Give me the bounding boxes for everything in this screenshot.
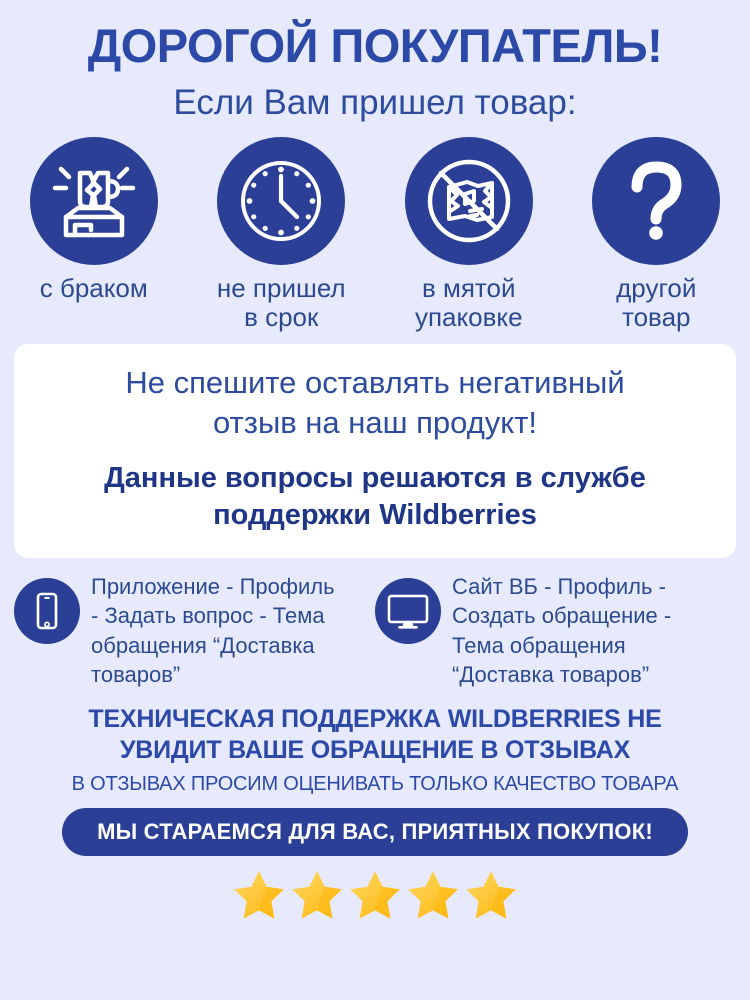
issue-label-line1: другой	[616, 273, 696, 303]
notice-line-1: Не спешите оставлять негативный	[125, 365, 624, 400]
notice-card-message: Не спешите оставлять негативный отзыв на…	[125, 363, 624, 442]
instruction-line-3: Тема обращения	[452, 633, 626, 658]
issue-label-line2: товар	[622, 302, 691, 332]
issue-icon-circle	[217, 137, 345, 265]
issue-item-late: не пришел в срок	[188, 137, 374, 332]
instruction-icon-circle	[14, 578, 80, 644]
instruction-line-2: Создать обращение -	[452, 603, 671, 628]
issue-icon-circle	[592, 137, 720, 265]
star-icon	[289, 868, 345, 922]
issue-label: в мятой упаковке	[415, 274, 523, 332]
instruction-line-4: товаров”	[91, 662, 180, 687]
issue-item-crumpled: в мятой упаковке	[376, 137, 562, 332]
instruction-line-1: Сайт ВБ - Профиль -	[452, 574, 666, 599]
instruction-line-1: Приложение - Профиль	[91, 574, 335, 599]
instruction-icon-circle	[375, 578, 441, 644]
instruction-line-4: “Доставка товаров”	[452, 662, 649, 687]
footer-warning-line-1: ТЕХНИЧЕСКАЯ ПОДДЕРЖКА WILDBERRIES НЕ	[88, 705, 661, 733]
instruction-app: Приложение - Профиль - Задать вопрос - Т…	[0, 572, 375, 689]
issue-icon-circle	[30, 137, 158, 265]
notice-card-emphasis: Данные вопросы решаются в службе поддерж…	[104, 460, 646, 535]
issue-label-line1: не пришел	[217, 273, 346, 303]
footer-note: В ОТЗЫВАХ ПРОСИМ ОЦЕНИВАТЬ ТОЛЬКО КАЧЕСТ…	[72, 773, 679, 795]
promo-banner: ДОРОГОЙ ПОКУПАТЕЛЬ! Если Вам пришел това…	[0, 0, 750, 1000]
notice-card: Не спешите оставлять негативный отзыв на…	[14, 344, 736, 558]
instructions-row: Приложение - Профиль - Задать вопрос - Т…	[0, 572, 750, 689]
issue-item-wrong-product: другой товар	[563, 137, 749, 332]
issue-icon-row: с браком	[0, 137, 750, 332]
clock-icon	[231, 151, 331, 251]
instruction-line-3: обращения “Доставка	[91, 633, 315, 658]
star-icon	[463, 868, 519, 922]
star-icon	[347, 868, 403, 922]
issue-icon-circle	[405, 137, 533, 265]
issue-label: другой товар	[616, 274, 696, 332]
notice-strong-1: Данные вопросы решаются в службе	[104, 462, 646, 494]
star-icon	[405, 868, 461, 922]
instruction-website: Сайт ВБ - Профиль - Создать обращение - …	[375, 572, 750, 689]
notice-line-2: отзыв на наш продукт!	[213, 405, 537, 440]
no-crumpled-package-icon	[419, 151, 519, 251]
cta-button[interactable]: МЫ СТАРАЕМСЯ ДЛЯ ВАС, ПРИЯТНЫХ ПОКУПОК!	[62, 808, 688, 856]
instruction-text: Приложение - Профиль - Задать вопрос - Т…	[91, 572, 335, 689]
page-subtitle: Если Вам пришел товар:	[173, 85, 576, 120]
star-icon	[231, 868, 287, 922]
rating-stars	[231, 868, 519, 922]
issue-label: с браком	[40, 274, 148, 303]
notice-strong-2: поддержки Wildberries	[213, 499, 537, 531]
smartphone-icon	[23, 587, 71, 635]
cta-button-label: МЫ СТАРАЕМСЯ ДЛЯ ВАС, ПРИЯТНЫХ ПОКУПОК!	[97, 819, 653, 845]
desktop-monitor-icon	[383, 586, 433, 636]
question-mark-icon	[606, 151, 706, 251]
footer-warning: ТЕХНИЧЕСКАЯ ПОДДЕРЖКА WILDBERRIES НЕ УВИ…	[88, 704, 661, 765]
footer-warning-line-2: УВИДИТ ВАШЕ ОБРАЩЕНИЕ В ОТЗЫВАХ	[120, 736, 630, 764]
broken-cup-in-box-icon	[44, 151, 144, 251]
issue-label-line2: упаковке	[415, 302, 523, 332]
instruction-text: Сайт ВБ - Профиль - Создать обращение - …	[452, 572, 671, 689]
issue-label-line1: с браком	[40, 273, 148, 303]
instruction-line-2: - Задать вопрос - Тема	[91, 603, 325, 628]
issue-item-defective: с браком	[1, 137, 187, 303]
issue-label: не пришел в срок	[217, 274, 346, 332]
issue-label-line1: в мятой	[422, 273, 516, 303]
page-title: ДОРОГОЙ ПОКУПАТЕЛЬ!	[88, 22, 663, 69]
issue-label-line2: в срок	[244, 302, 318, 332]
